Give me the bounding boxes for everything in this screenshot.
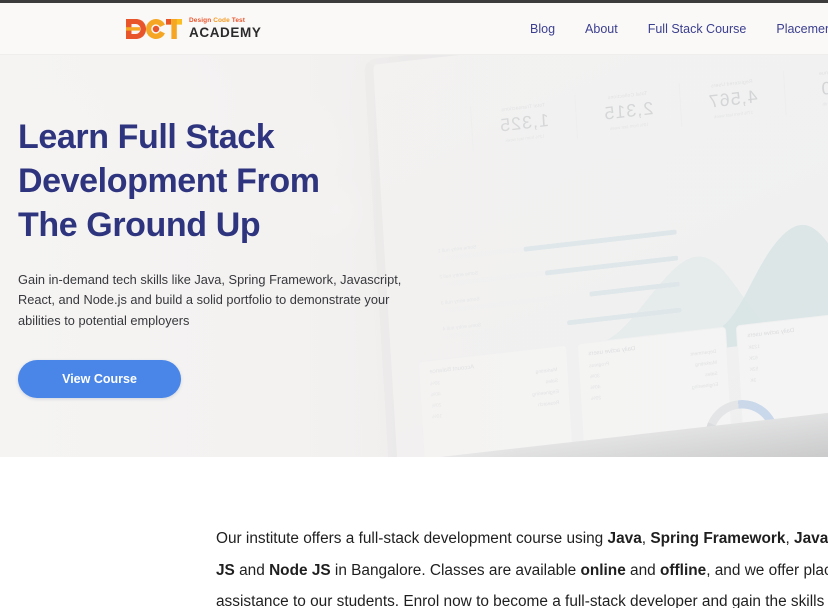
hero-title: Learn Full Stack Development From The Gr… xyxy=(18,115,448,248)
dct-logo-icon xyxy=(125,17,183,41)
logo-academy-text: ACADEMY xyxy=(189,26,261,40)
intro-paragraph: Our institute offers a full-stack develo… xyxy=(216,523,828,608)
intro-section: Our institute offers a full-stack develo… xyxy=(0,457,828,608)
nav-item-full-stack-course[interactable]: Full Stack Course xyxy=(648,22,747,36)
intro-keyword: Java xyxy=(608,530,642,547)
nav-item-blog[interactable]: Blog xyxy=(530,22,555,36)
intro-paragraph-line: JS and Node JS in Bangalore. Classes are… xyxy=(216,555,828,587)
intro-keyword: JS xyxy=(216,562,235,579)
intro-keyword: Javascript xyxy=(794,530,828,547)
hero-title-line: The Ground Up xyxy=(18,206,260,244)
site-logo[interactable]: Design Code Test ACADEMY xyxy=(125,17,261,41)
intro-text: in Bangalore. Classes are available xyxy=(331,562,581,579)
intro-keyword: Node JS xyxy=(269,562,331,579)
hero-section: Total Transactions 1,325 12% from last w… xyxy=(0,55,828,457)
hero-title-line: Development From xyxy=(18,162,320,200)
site-header: Design Code Test ACADEMY Blog About Full… xyxy=(0,3,828,55)
nav-item-placements[interactable]: Placements xyxy=(776,22,828,36)
intro-text: and xyxy=(235,562,269,579)
intro-paragraph-line: assistance to our students. Enrol now to… xyxy=(216,586,828,608)
intro-text: , and we offer placement xyxy=(706,562,828,579)
intro-paragraph-line: Our institute offers a full-stack develo… xyxy=(216,523,828,555)
intro-text: , xyxy=(785,530,794,547)
logo-wordmark: Design Code Test ACADEMY xyxy=(189,18,261,40)
logo-tagline: Design Code Test xyxy=(189,18,261,25)
view-course-button[interactable]: View Course xyxy=(18,360,181,398)
intro-keyword: offline xyxy=(660,562,706,579)
intro-text: assistance to our students. Enrol now to… xyxy=(216,593,824,608)
hero-content: Learn Full Stack Development From The Gr… xyxy=(18,115,448,398)
intro-text: and xyxy=(626,562,660,579)
nav-item-about[interactable]: About xyxy=(585,22,618,36)
intro-keyword: online xyxy=(580,562,625,579)
intro-text: Our institute offers a full-stack develo… xyxy=(216,530,608,547)
hero-subtitle: Gain in-demand tech skills like Java, Sp… xyxy=(18,270,430,333)
hero-title-line: Learn Full Stack xyxy=(18,118,274,156)
intro-keyword: Spring Framework xyxy=(650,530,785,547)
primary-navigation: Blog About Full Stack Course Placements … xyxy=(530,22,828,36)
